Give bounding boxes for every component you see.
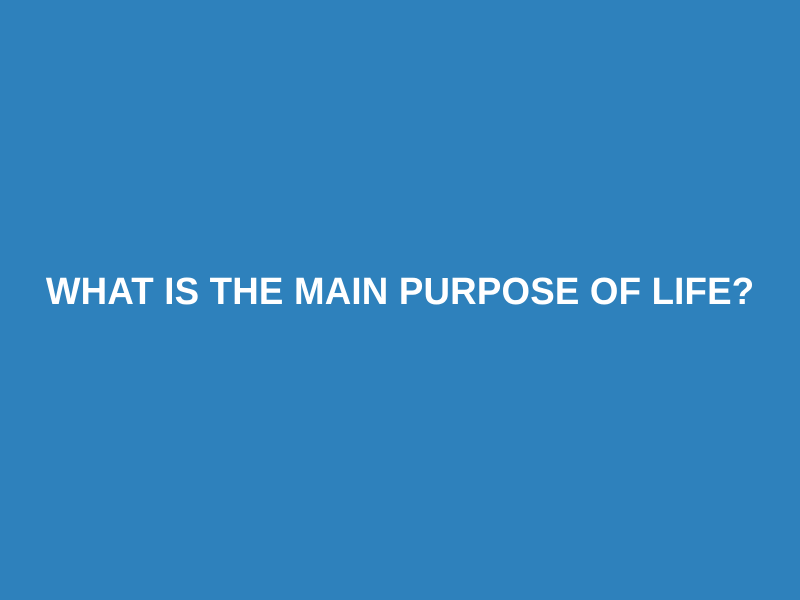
title-block: WHAT IS THE MAIN PURPOSE OF LIFE? bbox=[0, 245, 800, 338]
title-card: WHAT IS THE MAIN PURPOSE OF LIFE? bbox=[0, 0, 800, 600]
page-title: WHAT IS THE MAIN PURPOSE OF LIFE? bbox=[46, 271, 755, 314]
